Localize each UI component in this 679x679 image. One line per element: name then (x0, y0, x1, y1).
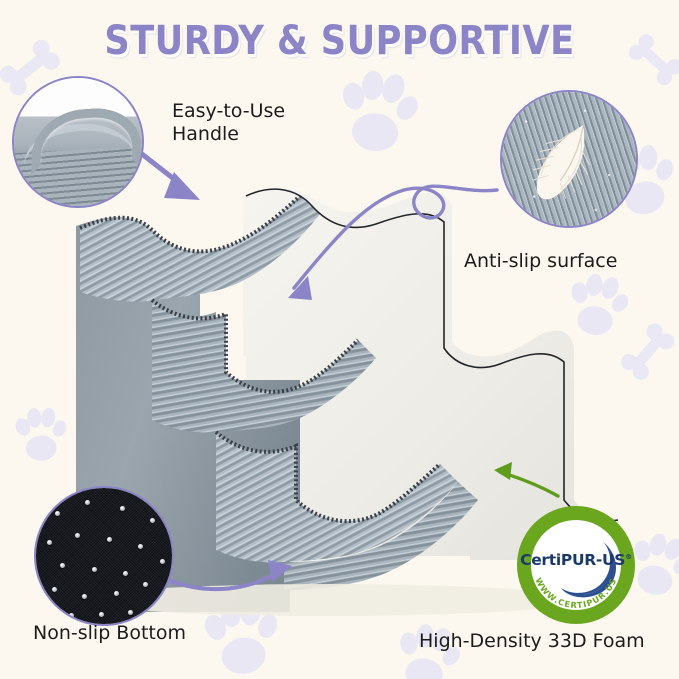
handle-photo-inset (12, 76, 144, 208)
nonslip-rubber-dots (36, 488, 172, 624)
badge-brand-label: CertiPUR-US (520, 551, 625, 569)
certipur-us-badge: CONTAINS CERTIFIED FLEXIBLE POLYURETHANE… (517, 506, 635, 624)
feather-graphic (502, 92, 636, 226)
callout-label-foam: High-Density 33D Foam (419, 630, 645, 653)
callout-label-non-slip-bottom: Non-slip Bottom (33, 622, 186, 645)
callout-label-anti-slip: Anti-slip surface (464, 250, 617, 273)
product-infographic: STURDY & SUPPORTIVE (0, 0, 679, 679)
registered-mark: ® (625, 553, 632, 561)
badge-brand-text: CertiPUR-US® (517, 551, 635, 569)
callout-label-handle: Easy-to-Use Handle (172, 100, 285, 146)
feather-on-corduroy-inset (500, 90, 638, 228)
grip-dots-fabric-inset (34, 486, 174, 626)
